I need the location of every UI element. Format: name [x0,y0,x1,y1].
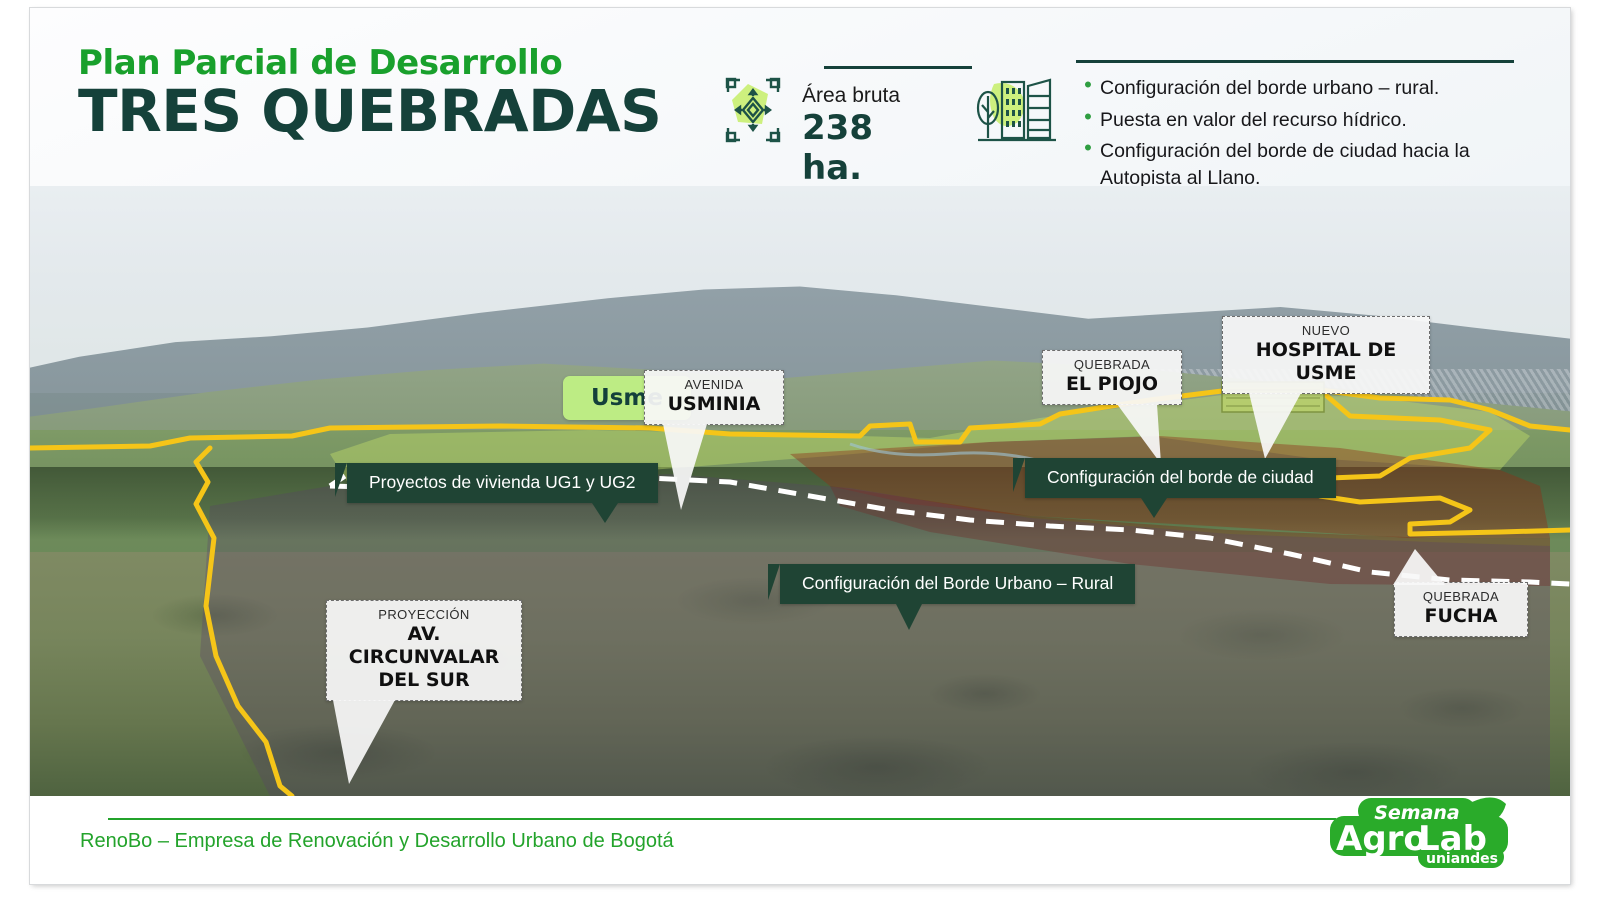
slide-footer: RenoBo – Empresa de Renovación y Desarro… [30,796,1570,884]
callout-tail-icon [1249,393,1319,459]
area-value: 238 [802,108,900,148]
band-tail-icon [592,503,618,523]
band-text: Proyectos de vivienda UG1 y UG2 [369,472,636,492]
callout-tail-icon [663,424,723,510]
area-rule [824,66,972,69]
semana-agrolab-logo[interactable]: Semana Agro Lab uniandes [1322,790,1522,882]
page-title: Plan Parcial de Desarrollo TRES QUEBRADA… [78,46,661,141]
objective-text: Configuración del borde urbano – rural. [1100,75,1439,102]
callout-subtitle: AVENIDA [659,377,769,393]
list-item: • Puesta en valor del recurso hídrico. [1076,107,1528,134]
list-item: • Configuración del borde urbano – rural… [1076,75,1528,102]
callout-nuevo-hospital-de-usme[interactable]: NUEVO HOSPITAL DE USME [1222,316,1430,394]
callout-subtitle: PROYECCIÓN [341,607,507,623]
gross-area-stat: Área bruta 238 ha. [718,60,900,188]
aerial-map-photo: Usme AVENIDA USMINIA QUEBRADA EL PIOJO N… [30,186,1570,796]
callout-subtitle: QUEBRADA [1057,357,1167,373]
bullet-dot-icon: • [1076,138,1100,158]
footer-credit: RenoBo – Empresa de Renovación y Desarro… [80,830,674,853]
objective-text: Configuración del borde de ciudad hacia … [1100,138,1528,191]
callout-title: FUCHA [1409,605,1513,628]
band-tail-icon [896,604,922,630]
callout-subtitle: QUEBRADA [1409,589,1513,605]
callout-title: EL PIOJO [1057,373,1167,396]
area-label: Área bruta [802,84,900,108]
band-text: Configuración del borde de ciudad [1047,467,1314,487]
area-unit: ha. [802,148,900,188]
callout-tail-icon [1393,549,1453,585]
callout-avenida-usminia[interactable]: AVENIDA USMINIA [644,370,784,425]
logo-main-a: Agro [1336,819,1427,859]
band-borde-urbano-rural[interactable]: Configuración del Borde Urbano – Rural [780,564,1135,604]
callout-title: USMINIA [659,393,769,416]
bullet-dot-icon: • [1076,75,1100,95]
band-tail-left-icon [335,463,347,497]
title-line-1: Plan Parcial de Desarrollo [78,46,661,80]
callout-tail-icon [333,700,423,784]
band-proyectos-vivienda[interactable]: Proyectos de vivienda UG1 y UG2 [347,463,658,503]
band-tail-icon [1141,498,1167,518]
callout-subtitle: NUEVO [1237,323,1415,339]
callout-av-circunvalar-del-sur[interactable]: PROYECCIÓN AV. CIRCUNVALAR DEL SUR [326,600,522,701]
title-line-2: TRES QUEBRADAS [78,82,661,141]
callout-quebrada-el-piojo[interactable]: QUEBRADA EL PIOJO [1042,350,1182,405]
logo-sub-text: uniandes [1426,851,1498,867]
objective-text: Puesta en valor del recurso hídrico. [1100,107,1407,134]
list-item: • Configuración del borde de ciudad haci… [1076,138,1528,191]
footer-rule [108,818,1336,820]
objectives-list: • Configuración del borde urbano – rural… [1076,60,1528,196]
city-tree-icon [972,66,1062,156]
callout-quebrada-fucha[interactable]: QUEBRADA FUCHA [1394,582,1528,637]
presentation-slide: Plan Parcial de Desarrollo TRES QUEBRADA… [30,8,1570,884]
band-text: Configuración del Borde Urbano – Rural [802,573,1113,593]
band-tail-left-icon [1013,458,1025,492]
bullet-dot-icon: • [1076,107,1100,127]
callout-tail-icon [1117,404,1177,464]
callout-title: AV. CIRCUNVALAR DEL SUR [341,623,507,691]
map-overlay-layer [30,186,1570,796]
objectives-rule [1076,60,1514,63]
area-measure-icon [718,70,788,150]
callout-title: HOSPITAL DE USME [1237,339,1415,385]
band-borde-de-ciudad[interactable]: Configuración del borde de ciudad [1025,458,1336,498]
slide-canvas: Plan Parcial de Desarrollo TRES QUEBRADA… [0,0,1600,900]
band-tail-left-icon [768,564,780,600]
